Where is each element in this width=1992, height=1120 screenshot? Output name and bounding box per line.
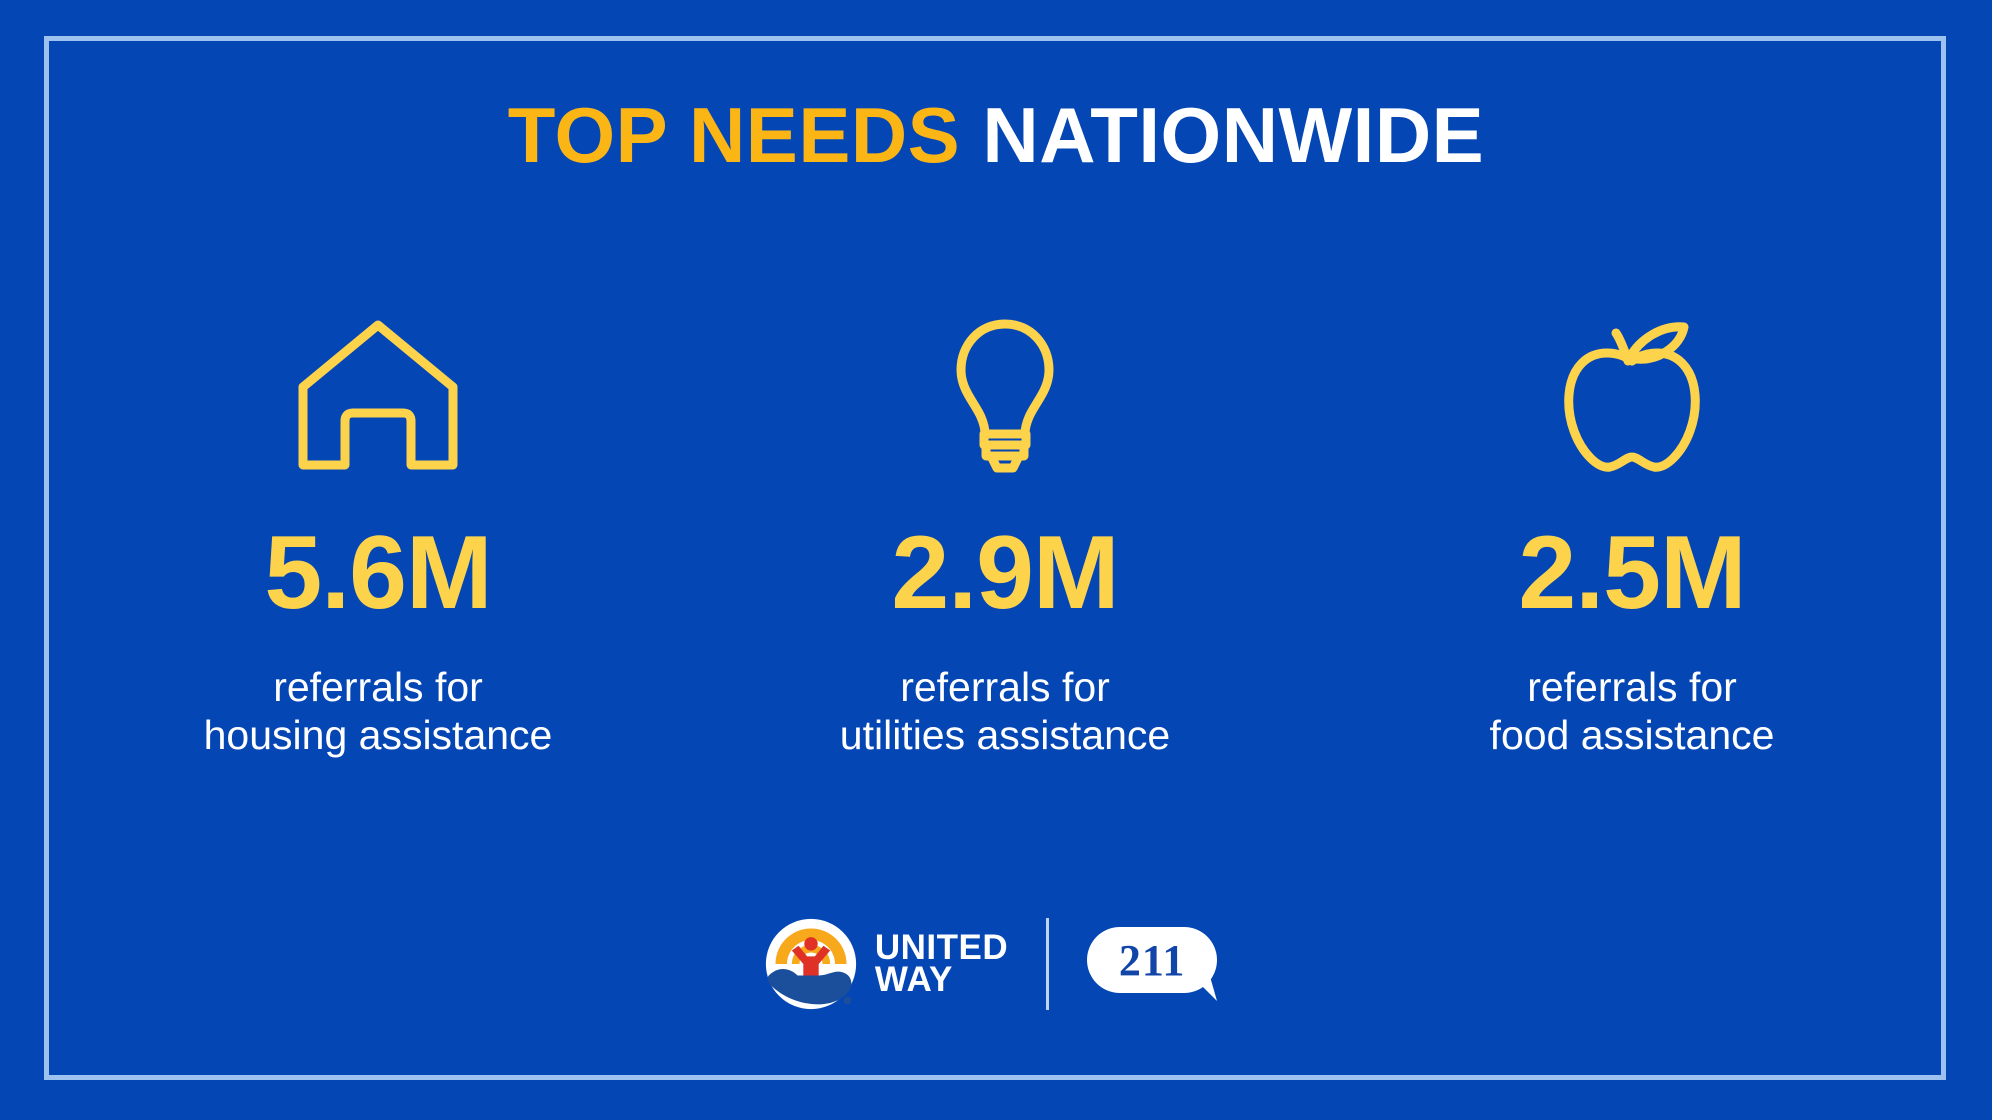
logo-divider — [1046, 918, 1049, 1010]
stats-row: 5.6M referrals for housing assistance 2.… — [60, 300, 1932, 760]
united-way-wordmark: UNITED WAY — [875, 932, 1008, 996]
211-logo: 211 — [1087, 927, 1229, 1001]
apple-icon — [1558, 300, 1706, 475]
footer-logo-bar: UNITED WAY 211 — [0, 916, 1992, 1012]
stat-card-housing: 5.6M referrals for housing assistance — [98, 300, 658, 760]
lightbulb-icon — [953, 300, 1057, 475]
211-number: 211 — [1087, 927, 1217, 993]
page-title: TOP NEEDS NATIONWIDE — [0, 96, 1992, 174]
stat-value-utilities: 2.9M — [891, 521, 1118, 625]
stat-value-food: 2.5M — [1518, 521, 1745, 625]
stat-caption-utilities: referrals for utilities assistance — [840, 663, 1170, 760]
stat-value-housing: 5.6M — [264, 521, 491, 625]
stat-card-food: 2.5M referrals for food assistance — [1352, 300, 1912, 760]
united-way-logo: UNITED WAY — [763, 916, 1008, 1012]
title-rest: NATIONWIDE — [960, 91, 1484, 179]
title-highlight: TOP NEEDS — [508, 91, 960, 179]
infographic-canvas: TOP NEEDS NATIONWIDE 5.6M referrals for … — [0, 0, 1992, 1120]
stat-caption-housing: referrals for housing assistance — [204, 663, 553, 760]
house-icon — [293, 300, 463, 475]
united-way-mark-icon — [763, 916, 859, 1012]
stat-card-utilities: 2.9M referrals for utilities assistance — [725, 300, 1285, 760]
stat-caption-food: referrals for food assistance — [1490, 663, 1775, 760]
